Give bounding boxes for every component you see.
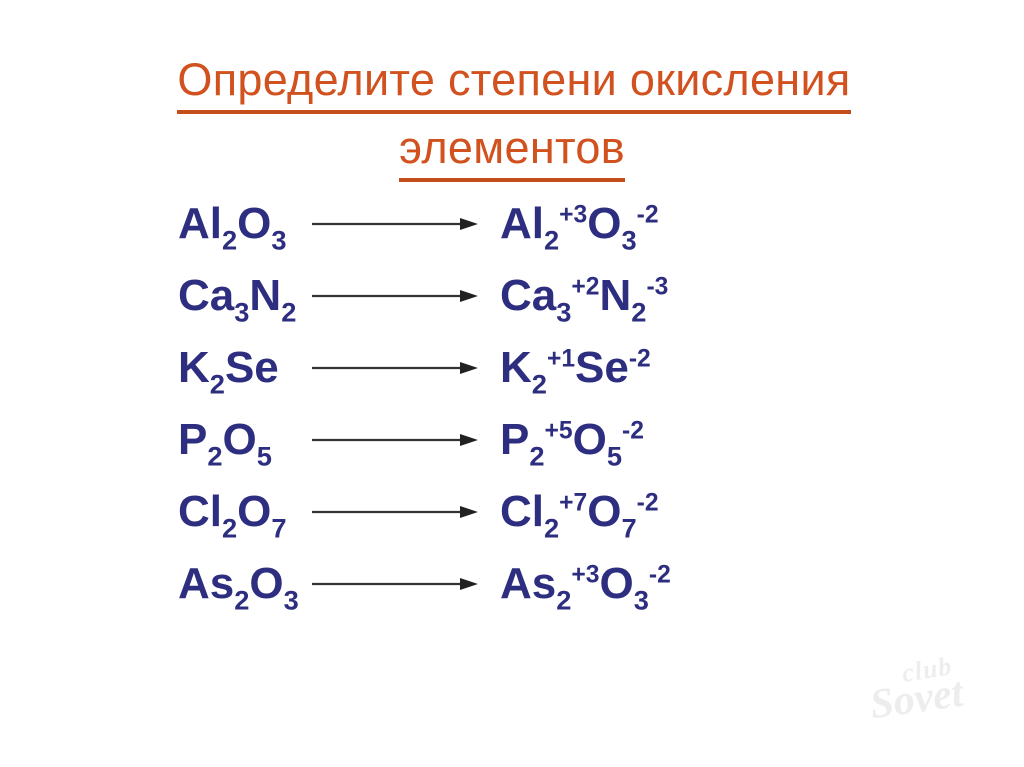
slide-canvas: Определите степени окисления элементов A… (0, 0, 1024, 767)
right-arrow-icon (310, 214, 480, 234)
formula-product: As2+3O3-2 (500, 561, 671, 607)
equation-left-cell: As2O3 (0, 561, 300, 607)
arrow-cell (300, 502, 490, 522)
arrow-cell (300, 358, 490, 378)
equation-row: K2Se K2+1Se-2 (0, 332, 1024, 404)
formula-product: P2+5O5-2 (500, 417, 644, 463)
equation-right-cell: Ca3+2N2-3 (490, 273, 1024, 319)
watermark-club-text: club (900, 651, 954, 688)
page-title: Определите степени окисления элементов (0, 52, 1024, 182)
equation-row: Cl2O7 Cl2+7O7-2 (0, 476, 1024, 548)
equation-left-cell: Al2O3 (0, 201, 300, 247)
formula-reactant: Al2O3 (178, 201, 287, 247)
equation-right-cell: Cl2+7O7-2 (490, 489, 1024, 535)
equation-right-cell: As2+3O3-2 (490, 561, 1024, 607)
equation-row: P2O5 P2+5O5-2 (0, 404, 1024, 476)
arrow-cell (300, 286, 490, 306)
right-arrow-icon (310, 502, 480, 522)
equation-left-cell: K2Se (0, 345, 300, 391)
watermark-sovet-text: Sovet (867, 669, 966, 730)
formula-product: Ca3+2N2-3 (500, 273, 668, 319)
formula-product: K2+1Se-2 (500, 345, 651, 391)
equation-left-cell: Ca3N2 (0, 273, 300, 319)
equation-row: As2O3 As2+3O3-2 (0, 548, 1024, 620)
equation-left-cell: Cl2O7 (0, 489, 300, 535)
title-line-2-text: элементов (399, 120, 625, 182)
formula-product: Cl2+7O7-2 (500, 489, 659, 535)
right-arrow-icon (310, 430, 480, 450)
equation-right-cell: P2+5O5-2 (490, 417, 1024, 463)
equation-right-cell: Al2+3O3-2 (490, 201, 1024, 247)
formula-reactant: K2Se (178, 345, 279, 391)
formula-reactant: P2O5 (178, 417, 272, 463)
arrow-cell (300, 574, 490, 594)
equation-left-cell: P2O5 (0, 417, 300, 463)
right-arrow-icon (310, 286, 480, 306)
equation-list: Al2O3 Al2+3O3-2 Ca3N2 (0, 188, 1024, 620)
formula-product: Al2+3O3-2 (500, 201, 659, 247)
title-line-1: Определите степени окисления (4, 52, 1024, 114)
formula-reactant: Ca3N2 (178, 273, 296, 319)
right-arrow-icon (310, 358, 480, 378)
arrow-cell (300, 214, 490, 234)
title-line-2: элементов (0, 120, 1024, 182)
right-arrow-icon (310, 574, 480, 594)
formula-reactant: Cl2O7 (178, 489, 287, 535)
equation-row: Ca3N2 Ca3+2N2-3 (0, 260, 1024, 332)
equation-row: Al2O3 Al2+3O3-2 (0, 188, 1024, 260)
equation-right-cell: K2+1Se-2 (490, 345, 1024, 391)
arrow-cell (300, 430, 490, 450)
formula-reactant: As2O3 (178, 561, 299, 607)
watermark: club Sovet (868, 653, 1000, 727)
title-line-1-text: Определите степени окисления (177, 52, 850, 114)
